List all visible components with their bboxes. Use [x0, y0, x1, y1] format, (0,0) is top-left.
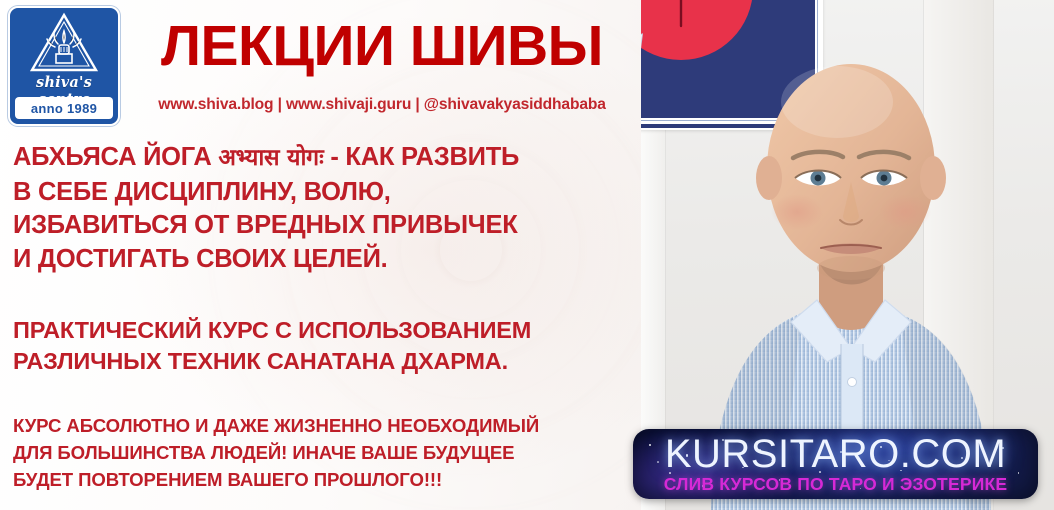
poster-header: shiva's centre anno 1989 ЛЕКЦИИ ШИВЫ www… [0, 0, 641, 128]
headline-line-1: АБХЬЯСА ЙОГА अभ्यास योगः - КАК РАЗВИТЬ [13, 141, 519, 176]
banner-subtitle: СЛИВ КУРСОВ ПО ТАРО И ЭЗОТЕРИКЕ [633, 474, 1038, 494]
headline-line-1-post: - КАК РАЗВИТЬ [324, 143, 520, 171]
course-callout-block: КУРС АБСОЛЮТНО И ДАЖЕ ЖИЗНЕННО НЕОБХОДИМ… [13, 412, 539, 493]
description-line-2: РАЗЛИЧНЫХ ТЕХНИК САНАТАНА ДХАРМА. [13, 346, 531, 377]
contact-links-line[interactable]: www.shiva.blog | www.shivaji.guru | @shi… [126, 96, 638, 114]
headline-line-4: И ДОСТИГАТЬ СВОИХ ЦЕЛЕЙ. [13, 243, 519, 277]
logo-anno-text: anno 1989 [15, 97, 113, 119]
poster-canvas: shiva's centre anno 1989 ЛЕКЦИИ ШИВЫ www… [0, 0, 1054, 510]
headline-line-1-pre: АБХЬЯСА ЙОГА [13, 143, 218, 171]
kursitaro-watermark-banner[interactable]: KURSITARO.COM СЛИВ КУРСОВ ПО ТАРО И ЭЗОТ… [633, 429, 1038, 499]
page-title: ЛЕКЦИИ ШИВЫ [126, 16, 638, 76]
headline-devanagari: अभ्यास योगः [218, 145, 323, 171]
course-description-block: ПРАКТИЧЕСКИЙ КУРС С ИСПОЛЬЗОВАНИЕМ РАЗЛИ… [13, 315, 531, 377]
callout-line-1: КУРС АБСОЛЮТНО И ДАЖЕ ЖИЗНЕННО НЕОБХОДИМ… [13, 412, 539, 439]
banner-title: KURSITARO.COM [633, 432, 1038, 476]
callout-line-3: БУДЕТ ПОВТОРЕНИЕМ ВАШЕГО ПРОШЛОГО!!! [13, 466, 539, 493]
left-text-panel: shiva's centre anno 1989 ЛЕКЦИИ ШИВЫ www… [0, 0, 641, 510]
shiva-centre-logo[interactable]: shiva's centre anno 1989 [8, 6, 120, 126]
headline-line-2: В СЕБЕ ДИСЦИПЛИНУ, ВОЛЮ, [13, 176, 519, 210]
headline-line-3: ИЗБАВИТЬСЯ ОТ ВРЕДНЫХ ПРИВЫЧЕК [13, 209, 519, 243]
course-headline-block: АБХЬЯСА ЙОГА अभ्यास योगः - КАК РАЗВИТЬ В… [13, 141, 519, 276]
shiva-lingam-triangle-icon [10, 12, 118, 78]
description-line-1: ПРАКТИЧЕСКИЙ КУРС С ИСПОЛЬЗОВАНИЕМ [13, 315, 531, 346]
callout-line-2: ДЛЯ БОЛЬШИНСТВА ЛЮДЕЙ! ИНАЧЕ ВАШЕ БУДУЩЕ… [13, 439, 539, 466]
